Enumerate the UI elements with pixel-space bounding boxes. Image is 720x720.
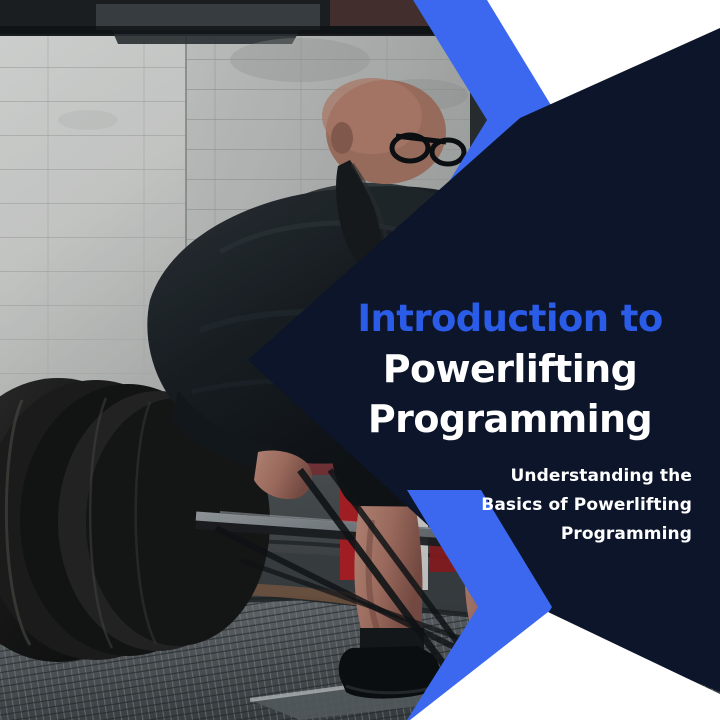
title-line-2: Powerlifting — [330, 344, 690, 394]
poster-title: Introduction to Powerlifting Programming — [330, 294, 690, 444]
subtitle-line-1: Understanding the — [362, 462, 692, 491]
subtitle-line-2: Basics of Powerlifting — [362, 491, 692, 520]
subtitle-line-3: Programming — [362, 520, 692, 549]
poster-subtitle: Understanding the Basics of Powerlifting… — [362, 462, 692, 549]
title-line-3: Programming — [330, 394, 690, 444]
text-layer: Introduction to Powerlifting Programming… — [0, 0, 720, 720]
title-line-1: Introduction to — [330, 294, 690, 344]
poster-canvas: Introduction to Powerlifting Programming… — [0, 0, 720, 720]
